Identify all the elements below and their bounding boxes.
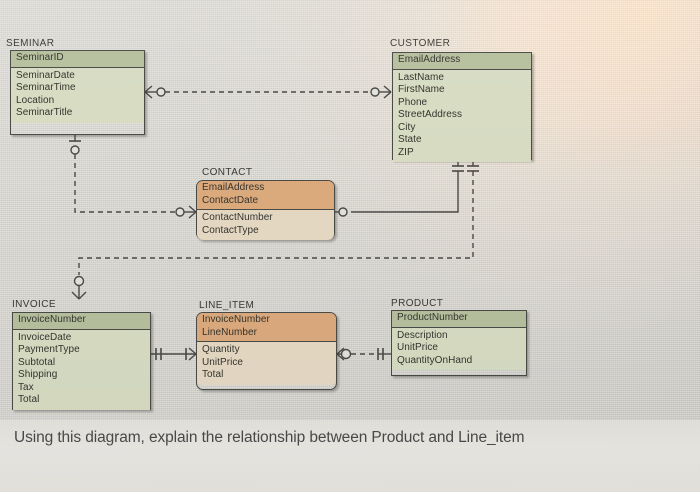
attribute: ZIP: [398, 147, 526, 160]
attribute: Description: [397, 330, 521, 343]
attribute: LastName: [398, 72, 526, 85]
attribute: Shipping: [18, 369, 145, 382]
entity-invoice-attributes: InvoiceDate PaymentType Subtotal Shippin…: [13, 330, 150, 410]
entity-invoice-key-section: InvoiceNumber: [13, 313, 150, 330]
attribute: SeminarTitle: [16, 107, 139, 120]
attribute: Quantity: [202, 344, 331, 357]
attribute-key: ContactDate: [202, 195, 329, 208]
attribute-key: EmailAddress: [398, 54, 526, 67]
attribute: Phone: [398, 97, 526, 110]
attribute: InvoiceDate: [18, 332, 145, 345]
attribute: UnitPrice: [202, 357, 331, 370]
attribute: FirstName: [398, 84, 526, 97]
entity-product-key-section: ProductNumber: [392, 311, 526, 328]
entity-line-item[interactable]: InvoiceNumber LineNumber Quantity UnitPr…: [196, 312, 337, 390]
entity-title-product: PRODUCT: [391, 298, 443, 309]
entity-contact[interactable]: EmailAddress ContactDate ContactNumber C…: [196, 180, 335, 240]
entity-seminar-key-section: SeminarID: [11, 51, 144, 68]
attribute: Total: [18, 394, 145, 407]
screenshot-root: CUSTOMER (dashed, many-to-many optional)…: [0, 0, 700, 492]
entity-contact-key-section: EmailAddress ContactDate: [197, 181, 334, 210]
entity-customer-attributes: LastName FirstName Phone StreetAddress C…: [393, 70, 531, 163]
marker-optional-contact-left: [176, 208, 184, 216]
attribute: UnitPrice: [397, 342, 521, 355]
entity-product[interactable]: ProductNumber Description UnitPrice Quan…: [391, 310, 527, 376]
marker-optional-seminar-customer-left: [157, 88, 165, 96]
entity-title-customer: CUSTOMER: [390, 38, 450, 49]
marker-optional-seminar-contact: [71, 146, 79, 154]
attribute: SeminarTime: [16, 82, 139, 95]
attribute: PaymentType: [18, 344, 145, 357]
attribute: ContactNumber: [202, 212, 329, 225]
wire-customer-contact: [351, 171, 458, 212]
entity-seminar-attributes: SeminarDate SeminarTime Location Seminar…: [11, 68, 144, 123]
marker-optional-invoice: [75, 277, 84, 286]
attribute: SeminarDate: [16, 70, 139, 83]
entity-line-item-attributes: Quantity UnitPrice Total: [197, 342, 336, 385]
attribute: QuantityOnHand: [397, 355, 521, 368]
attribute: Tax: [18, 382, 145, 395]
marker-optional-contact-right: [339, 208, 347, 216]
entity-seminar[interactable]: SeminarID SeminarDate SeminarTime Locati…: [10, 50, 145, 135]
entity-customer-key-section: EmailAddress: [393, 53, 531, 70]
wire-seminar-contact: [75, 154, 176, 212]
entity-title-seminar: SEMINAR: [6, 38, 54, 49]
attribute: Location: [16, 95, 139, 108]
entity-title-invoice: INVOICE: [12, 299, 56, 310]
marker-optional-seminar-customer-right: [371, 88, 379, 96]
entity-title-contact: CONTACT: [202, 167, 252, 178]
attribute-key: ProductNumber: [397, 312, 521, 325]
attribute-key: InvoiceNumber: [18, 314, 145, 327]
entity-invoice[interactable]: InvoiceNumber InvoiceDate PaymentType Su…: [12, 312, 151, 410]
attribute-key: SeminarID: [16, 52, 139, 65]
entity-line-item-key-section: InvoiceNumber LineNumber: [197, 313, 336, 342]
question-caption: Using this diagram, explain the relation…: [14, 428, 694, 448]
attribute: State: [398, 134, 526, 147]
entity-customer[interactable]: EmailAddress LastName FirstName Phone St…: [392, 52, 532, 160]
attribute: City: [398, 122, 526, 135]
attribute: StreetAddress: [398, 109, 526, 122]
entity-contact-attributes: ContactNumber ContactType: [197, 210, 334, 240]
marker-optional-lineitem-right: [342, 350, 351, 359]
attribute: Total: [202, 369, 331, 382]
entity-title-line-item: LINE_ITEM: [199, 300, 254, 311]
er-diagram: CUSTOMER (dashed, many-to-many optional)…: [0, 0, 700, 492]
attribute-key: EmailAddress: [202, 182, 329, 195]
attribute-key: InvoiceNumber: [202, 314, 331, 327]
attribute-key: LineNumber: [202, 327, 331, 340]
attribute: ContactType: [202, 225, 329, 238]
entity-product-attributes: Description UnitPrice QuantityOnHand: [392, 328, 526, 371]
attribute: Subtotal: [18, 357, 145, 370]
